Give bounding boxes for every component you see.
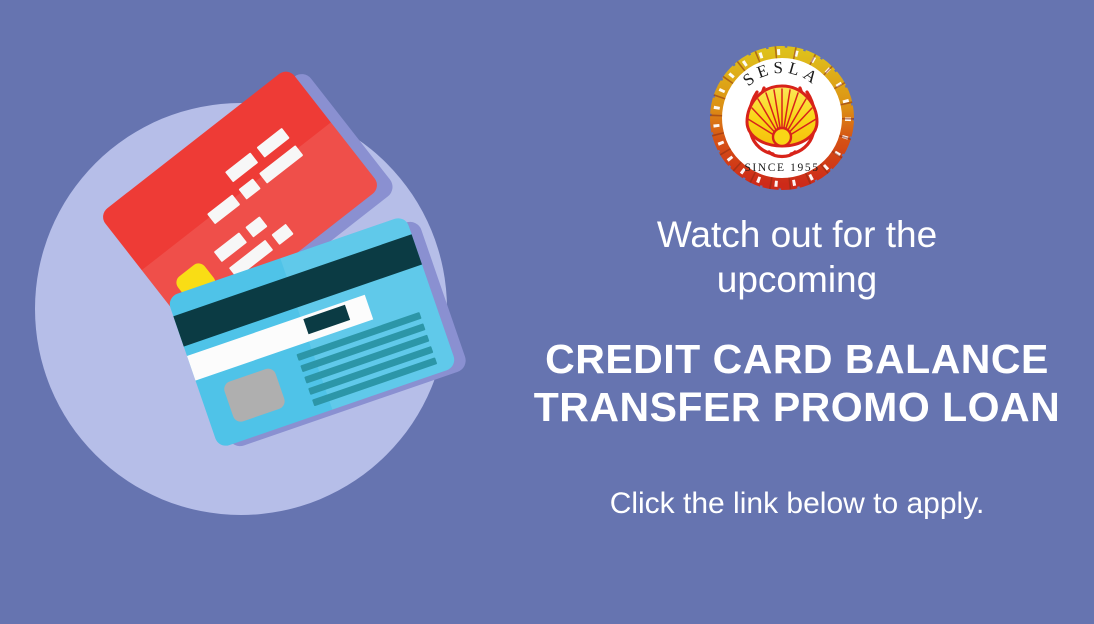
cta-text: Click the link below to apply. (500, 487, 1094, 521)
credit-cards-illustration (0, 0, 500, 624)
promo-content: SESLA (500, 0, 1094, 624)
sesla-logo: SESLA (707, 42, 857, 194)
subheadline: Watch out for the upcoming (500, 212, 1094, 302)
logo-bottom-text: SINCE 1955 (744, 162, 819, 174)
card-hologram-box (222, 367, 287, 424)
subheadline-line-1: Watch out for the (500, 212, 1094, 257)
headline: CREDIT CARD BALANCE TRANSFER PROMO LOAN (500, 335, 1094, 431)
headline-line-1: CREDIT CARD BALANCE (500, 335, 1094, 383)
logo-shell-icon (747, 86, 817, 146)
promo-banner: SESLA (0, 0, 1094, 624)
card-number-block (225, 152, 258, 182)
headline-line-2: TRANSFER PROMO LOAN (500, 383, 1094, 431)
sesla-logo-svg: SESLA (707, 42, 857, 194)
subheadline-line-2: upcoming (500, 257, 1094, 302)
